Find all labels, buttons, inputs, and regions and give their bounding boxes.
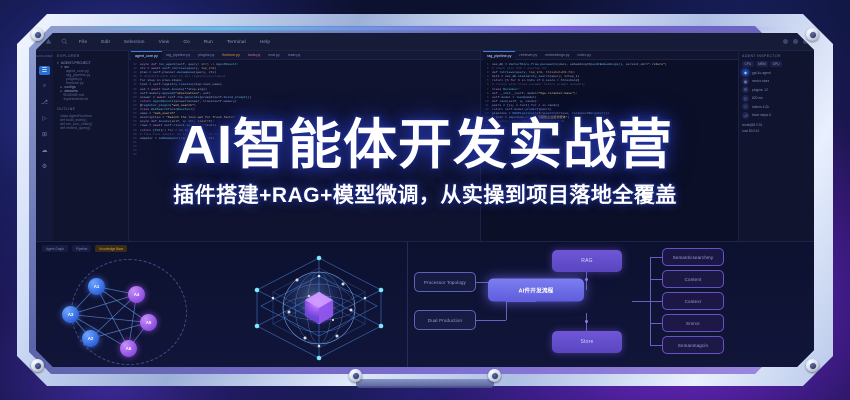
inspector-row-label: tokens 4.2k [752, 105, 769, 109]
menu-item-view[interactable]: View [152, 39, 177, 44]
inspector-panel: AGENT INSPECTOR CPUMEMGPU ◆gpt-4o-agent▣… [738, 51, 814, 241]
network-node[interactable]: A1 [88, 278, 105, 295]
inspector-chip[interactable]: MEM [756, 61, 768, 67]
editor-tab[interactable]: eval.py [264, 51, 283, 60]
inspector-row[interactable]: ⚙plugins: 12 [742, 86, 811, 93]
inspector-footer-item: cost $0.014 [742, 129, 811, 133]
inspector-row[interactable]: ◆gpt-4o-agent [742, 69, 811, 76]
menu-item-terminal[interactable]: Terminal [220, 39, 253, 44]
menu-item-go[interactable]: Go [176, 39, 197, 44]
viz-chip[interactable]: Agent Graph [42, 245, 68, 252]
code-area-right[interactable]: vec_db = VectorStore.from_documents(docs… [490, 60, 738, 241]
cloud-icon[interactable]: ☁ [39, 146, 50, 155]
editor-tab[interactable]: rag_pipeline.py [162, 51, 194, 60]
pipeline-flow-diagram: RAG AI件开发流程 Store Processor Topology Dua… [408, 242, 814, 367]
menu-items: FileEditSelectionViewGoRunTerminalHelp [72, 39, 277, 44]
model-icon: ◆ [742, 69, 749, 76]
rail-icon-list: ☰⌕⎇▷⊞☁⚙ [39, 66, 50, 171]
search-icon[interactable] [56, 36, 72, 48]
inspector-row[interactable]: ≡tokens 4.2k [742, 103, 811, 110]
explorer-panel: EXPLORER ▾AGENT-PROJECT▾srcagent_core.py… [53, 51, 129, 241]
flow-box-left-2[interactable]: Dual Production [414, 310, 476, 330]
editor-tab[interactable]: finetune.py [218, 51, 244, 60]
visualization-panel: Agent GraphPipelineKnowledge Base A1A4A3… [36, 241, 814, 367]
inspector-row-label: plugins: 12 [752, 88, 768, 92]
bezel-bottom-notch [356, 379, 494, 388]
bezel-rivet-bottom-center-left [349, 369, 362, 382]
file-tree-item[interactable]: requirements.txt [57, 97, 124, 101]
code-token: LoRAAdapter [159, 136, 179, 140]
flow-box-right-3[interactable]: Contexr [662, 292, 724, 310]
flow-branch-4 [650, 323, 662, 324]
flow-box-store[interactable]: Store [552, 331, 622, 353]
inspector-footer-item: recall@8 0.91 [742, 123, 811, 127]
plugin-icon: ⚙ [742, 86, 749, 93]
flow-box-right-5[interactable]: Semanmagcin [662, 336, 724, 354]
flow-line-left-bot-h [476, 320, 506, 321]
editor-tab[interactable]: rag_pipeline.py [483, 51, 515, 60]
outline-title: OUTLINE [57, 107, 124, 111]
editor-tab[interactable]: agent_core.py [131, 51, 162, 60]
file-tree: ▾AGENT-PROJECT▾srcagent_core.pyrag_pipel… [57, 61, 124, 101]
screen-content: FileEditSelectionViewGoRunTerminalHelp E… [36, 33, 814, 367]
code-area-left[interactable]: async def run_agent(self, query: str) ->… [138, 60, 480, 241]
flow-dot-top [585, 278, 588, 281]
flow-line-top-v [586, 272, 587, 290]
code-token: adapter [140, 136, 153, 140]
inspector-row-label: trace steps 6 [752, 113, 771, 117]
chart-icon: ≡ [742, 103, 749, 110]
ide-window: FileEditSelectionViewGoRunTerminalHelp E… [36, 33, 814, 367]
bezel-rivet-bottom-left [31, 359, 44, 372]
editor-left[interactable]: 4243444546474849505152535455565758596061… [129, 60, 480, 241]
line-number: 19 [485, 136, 488, 140]
flow-line-right-h [632, 301, 650, 302]
inspector-chip-row: CPUMEMGPU [742, 61, 811, 67]
inspector-title: AGENT INSPECTOR [742, 54, 811, 58]
vector-icon: ▣ [742, 78, 749, 85]
hex-wireframe [245, 250, 393, 366]
menu-item-edit[interactable]: Edit [94, 39, 117, 44]
inspector-chip[interactable]: GPU [770, 61, 782, 67]
editor-right-pane: rag_pipeline.pyretriever.pyembeddings.py… [480, 51, 738, 241]
menu-item-help[interactable]: Help [253, 39, 277, 44]
editor-tab[interactable]: plugins.py [194, 51, 218, 60]
inspector-footer: recall@8 0.91cost $0.014 [742, 123, 811, 133]
menu-bar: FileEditSelectionViewGoRunTerminalHelp [36, 33, 814, 51]
inspector-rows: ◆gpt-4o-agent▣vector-store⚙plugins: 12◴8… [742, 69, 811, 119]
bezel-top-glow [57, 27, 793, 30]
flow-box-left-1[interactable]: Processor Topology [414, 272, 476, 292]
menu-item-file[interactable]: File [72, 39, 94, 44]
agent-network-graph: A1A4A3A5A2A6 [44, 260, 214, 364]
minimize-button[interactable] [783, 39, 788, 44]
extensions-icon[interactable]: ⊞ [39, 130, 50, 139]
editor-tab[interactable]: main.py [284, 51, 305, 60]
inspector-row[interactable]: ◴820 ms [742, 95, 811, 102]
files-icon[interactable]: ☰ [39, 66, 50, 75]
network-node[interactable]: A6 [120, 340, 137, 357]
inspector-chip[interactable]: CPU [742, 61, 754, 67]
device-bezel-frame: FileEditSelectionViewGoRunTerminalHelp E… [17, 14, 833, 386]
code-token: ) [212, 136, 214, 140]
inspector-row[interactable]: ⎇trace steps 6 [742, 112, 811, 119]
flow-branch-2 [650, 279, 662, 280]
ide-body: EXPLORER ☰⌕⎇▷⊞☁⚙ EXPLORER ▾AGENT-PROJECT… [36, 51, 814, 241]
file-tree-label: requirements.txt [63, 97, 89, 101]
editor-tabbar-right: rag_pipeline.pyretriever.pyembeddings.py… [481, 51, 738, 60]
editor-right[interactable]: 12345678910111213141516171819 vec_db = V… [481, 60, 738, 241]
flow-branch-5 [650, 345, 662, 346]
outline-list: class AgentRuntimedef build_index()def r… [57, 114, 124, 130]
bezel-rivet-top-left [31, 28, 44, 41]
flow-branch-1 [650, 257, 662, 258]
flow-box-right-4[interactable]: Srsrce [662, 314, 724, 332]
menu-item-selection[interactable]: Selection [117, 39, 152, 44]
source-control-icon[interactable]: ⎇ [39, 98, 50, 107]
editor-tab[interactable]: embeddings.py [541, 51, 573, 60]
activity-rail: EXPLORER ☰⌕⎇▷⊞☁⚙ [36, 51, 53, 241]
viz-right-section: RAG AI件开发流程 Store Processor Topology Dua… [408, 242, 814, 367]
tree-caret-icon: ▾ [57, 61, 59, 65]
branch-icon: ⎇ [742, 112, 749, 119]
viz-left-section: Agent GraphPipelineKnowledge Base A1A4A3… [36, 242, 408, 367]
viz-tab-chips: Agent GraphPipelineKnowledge Base [42, 245, 127, 252]
bezel-rivet-bottom-right [806, 359, 819, 372]
flow-branch-3 [650, 301, 662, 302]
maximize-button[interactable] [793, 39, 798, 44]
search-icon[interactable]: ⌕ [39, 82, 50, 91]
line-number: 64 [133, 152, 136, 156]
code-line: # latency p95 = 820ms | recall@8 = 0.91 [492, 119, 735, 123]
inspector-row[interactable]: ▣vector-store [742, 78, 811, 85]
editor-tab[interactable]: index.py [574, 51, 595, 60]
explorer-title: EXPLORER [57, 54, 124, 58]
clock-icon: ◴ [742, 95, 749, 102]
network-node[interactable]: A5 [140, 314, 157, 331]
settings-icon[interactable]: ⚙ [39, 162, 50, 171]
code-token: alpha [198, 136, 207, 140]
menu-item-run[interactable]: Run [197, 39, 220, 44]
viz-chip[interactable]: Pipeline [72, 245, 91, 252]
debug-icon[interactable]: ▷ [39, 114, 50, 123]
network-node[interactable]: A2 [82, 330, 99, 347]
bezel-rivet-top-right [806, 28, 819, 41]
editor-center-column: agent_core.pyrag_pipeline.pyplugins.pyfi… [129, 51, 480, 241]
network-node[interactable]: A3 [62, 306, 79, 323]
code-token: # latency p95 = 820ms | recall@8 = 0.91 [492, 119, 564, 123]
code-line: adapter = LoRAAdapter(rank=16, alpha=32) [140, 136, 477, 140]
inspector-row-label: vector-store [752, 79, 769, 83]
editor-tabbar-left: agent_core.pyrag_pipeline.pyplugins.pyfi… [129, 51, 480, 60]
flow-box-right-2[interactable]: Content [662, 270, 724, 288]
flow-box-right-1[interactable]: Semanticsearchmy [662, 248, 724, 266]
editor-tab[interactable]: retriever.py [515, 51, 541, 60]
outline-item[interactable]: def embed_query() [57, 126, 124, 130]
flow-dot-bottom [585, 320, 588, 323]
viz-chip[interactable]: Knowledge Base [95, 245, 127, 252]
bezel-rivet-bottom-center-right [488, 369, 501, 382]
tree-caret-icon: ▾ [61, 65, 63, 69]
flow-box-center[interactable]: AI件开发流程 [488, 279, 584, 302]
inspector-row-label: gpt-4o-agent [752, 71, 771, 75]
line-number-gutter-left: 4243444546474849505152535455565758596061… [129, 60, 138, 241]
rail-label: EXPLORER [36, 54, 52, 58]
knowledge-core-graphic [245, 250, 393, 366]
line-number-gutter-right: 12345678910111213141516171819 [481, 60, 490, 241]
editor-tab[interactable]: tools.py [244, 51, 264, 60]
flow-box-rag[interactable]: RAG [552, 250, 622, 272]
inspector-row-label: 820 ms [752, 96, 763, 100]
network-node[interactable]: A4 [128, 286, 145, 303]
